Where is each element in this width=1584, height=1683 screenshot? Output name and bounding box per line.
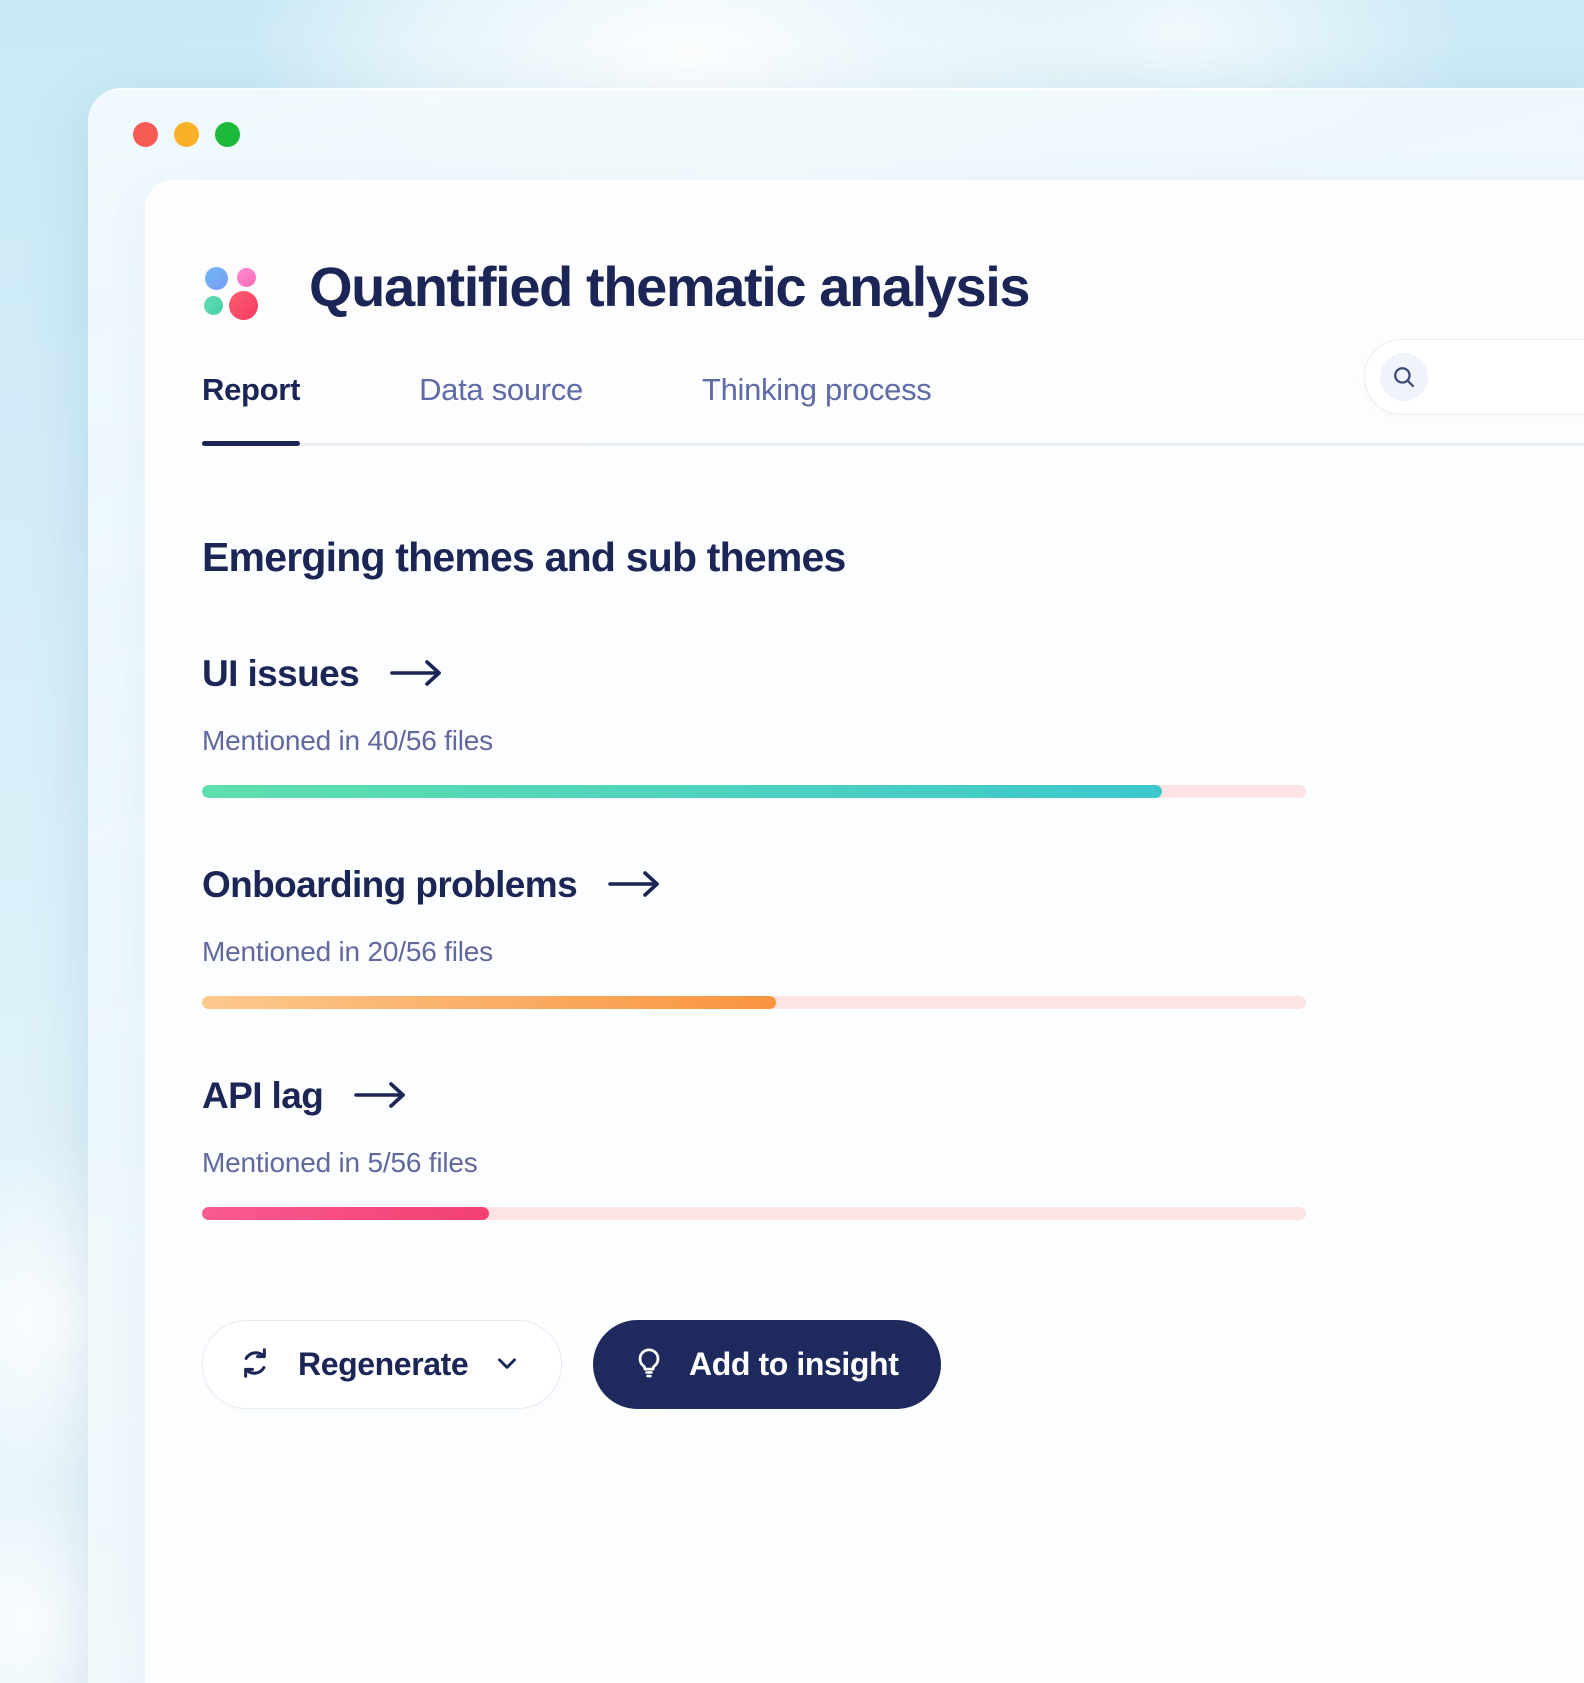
theme-block: API lag Mentioned in 5/56 files bbox=[202, 1075, 1584, 1220]
theme-block: Onboarding problems Mentioned in 20/56 f… bbox=[202, 864, 1584, 1009]
window-titlebar bbox=[88, 88, 1584, 180]
theme-meta: Mentioned in 20/56 files bbox=[202, 936, 1584, 968]
refresh-icon bbox=[236, 1344, 274, 1385]
regenerate-label: Regenerate bbox=[298, 1346, 468, 1383]
theme-meta: Mentioned in 5/56 files bbox=[202, 1147, 1584, 1179]
four-dots-logo-icon bbox=[201, 258, 259, 316]
lightbulb-icon bbox=[631, 1345, 667, 1384]
theme-block: UI issues Mentioned in 40/56 files bbox=[202, 653, 1584, 798]
tab-report[interactable]: Report bbox=[202, 372, 300, 446]
report-content: Emerging themes and sub themes UI issues… bbox=[145, 534, 1584, 1409]
app-card: Quantified thematic analysis Report Data… bbox=[145, 180, 1584, 1683]
window-minimize-button[interactable] bbox=[174, 122, 199, 147]
page-title: Quantified thematic analysis bbox=[309, 258, 1029, 317]
theme-progress-track bbox=[202, 996, 1306, 1009]
browser-window-frame: Quantified thematic analysis Report Data… bbox=[88, 88, 1584, 1683]
theme-link-ui-issues[interactable]: UI issues bbox=[202, 653, 445, 695]
chevron-down-icon bbox=[492, 1348, 522, 1381]
add-to-insight-label: Add to insight bbox=[689, 1346, 898, 1383]
window-zoom-button[interactable] bbox=[215, 122, 240, 147]
theme-progress-track bbox=[202, 785, 1306, 798]
arrow-right-icon bbox=[389, 659, 445, 692]
search-input[interactable] bbox=[1428, 363, 1584, 391]
action-row: Regenerate Add bbox=[202, 1320, 1584, 1409]
regenerate-button[interactable]: Regenerate bbox=[202, 1320, 562, 1409]
theme-progress-fill bbox=[202, 785, 1162, 798]
section-heading: Emerging themes and sub themes bbox=[202, 534, 1584, 581]
search-icon bbox=[1380, 353, 1428, 401]
theme-link-onboarding-problems[interactable]: Onboarding problems bbox=[202, 864, 663, 906]
theme-title: UI issues bbox=[202, 653, 359, 695]
theme-title: API lag bbox=[202, 1075, 323, 1117]
theme-title: Onboarding problems bbox=[202, 864, 577, 906]
theme-progress-fill bbox=[202, 1207, 489, 1220]
theme-meta: Mentioned in 40/56 files bbox=[202, 725, 1584, 757]
arrow-right-icon bbox=[353, 1081, 409, 1114]
theme-progress-track bbox=[202, 1207, 1306, 1220]
add-to-insight-button[interactable]: Add to insight bbox=[593, 1320, 941, 1409]
arrow-right-icon bbox=[607, 870, 663, 903]
tabbar: Report Data source Thinking process bbox=[145, 372, 1584, 446]
theme-link-api-lag[interactable]: API lag bbox=[202, 1075, 409, 1117]
app-header: Quantified thematic analysis bbox=[145, 180, 1584, 317]
tab-thinking-process[interactable]: Thinking process bbox=[702, 372, 932, 446]
search-box[interactable] bbox=[1364, 339, 1584, 415]
window-close-button[interactable] bbox=[133, 122, 158, 147]
theme-progress-fill bbox=[202, 996, 776, 1009]
tab-data-source[interactable]: Data source bbox=[419, 372, 583, 446]
